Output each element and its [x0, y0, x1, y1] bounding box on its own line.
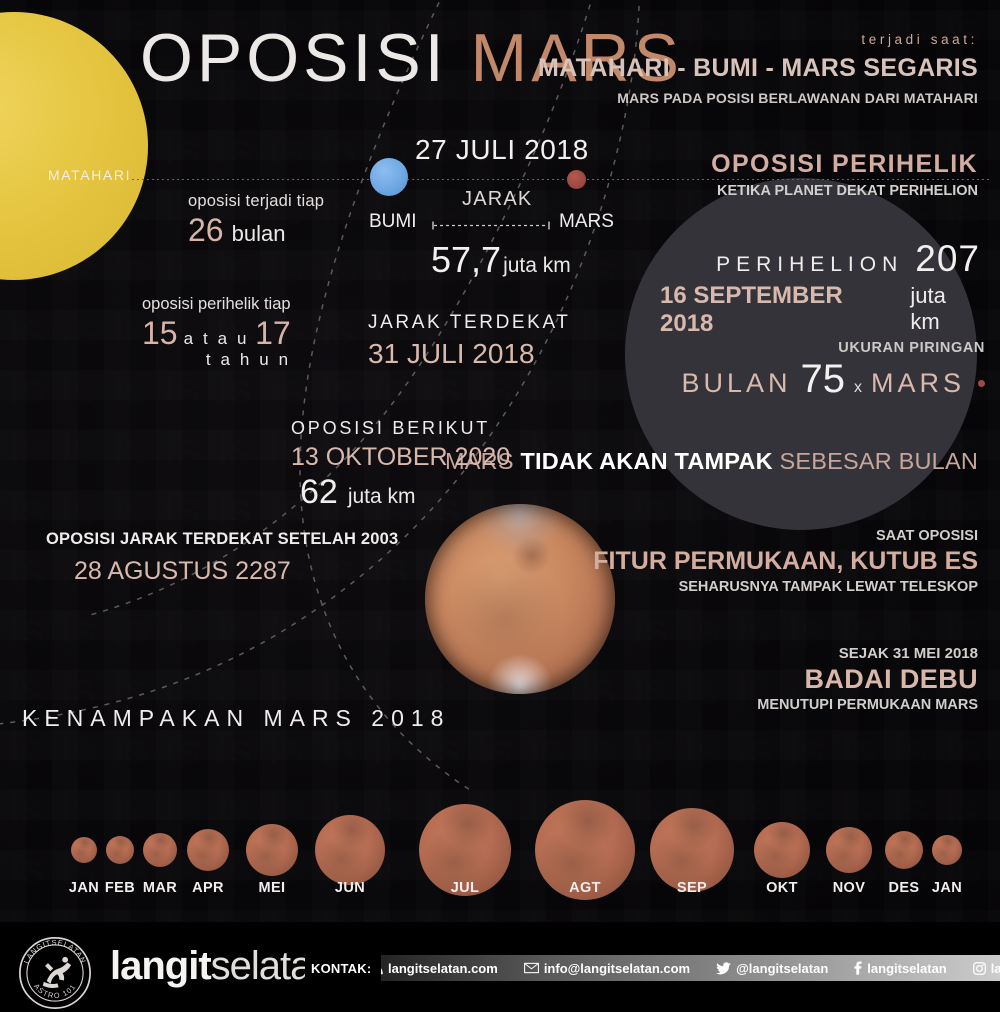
- disc-size-moon-label: BULAN: [681, 368, 791, 399]
- perihelic-subtitle: KETIKA PLANET DEKAT PERIHELION: [711, 183, 978, 199]
- month-label-jan: JAN: [917, 880, 977, 896]
- contact-email-text: info@langitselatan.com: [544, 961, 690, 976]
- closest-distance-date: 31 JULI 2018: [368, 338, 571, 370]
- disc-size-block: UKURAN PIRINGAN BULAN 75 x MARS: [660, 340, 985, 402]
- langitselatan-logo-icon[interactable]: LANGITSELATAN ASTRO 101: [16, 934, 94, 1012]
- header-main-line: MATAHARI - BUMI - MARS SEGARIS: [538, 54, 978, 83]
- title-word-oposisi: OPOSISI: [140, 20, 448, 96]
- mars-size-jan: [932, 835, 962, 865]
- orbit-earth: [300, 0, 470, 790]
- earth-dot: [370, 158, 408, 196]
- month-label-nov: NOV: [819, 880, 879, 896]
- svg-text:LANGITSELATAN: LANGITSELATAN: [22, 938, 88, 965]
- mars-planet-photo: [425, 504, 615, 694]
- distance-measure-line: [432, 221, 550, 230]
- disc-size-factor: 75: [800, 357, 845, 402]
- perihelion-value: 207: [915, 238, 980, 280]
- closest-after-2003-block: OPOSISI JARAK TERDEKAT SETELAH 2003 28 A…: [46, 530, 398, 586]
- brand-wordmark: langitselatan: [110, 944, 333, 989]
- closest-after-2003-caption: OPOSISI JARAK TERDEKAT SETELAH 2003: [46, 530, 398, 549]
- perihelion-unit: juta km: [910, 283, 980, 335]
- perihelic-interval-conj: a t a u: [184, 329, 249, 349]
- opposition-interval-caption: oposisi terjadi tiap: [188, 192, 324, 211]
- surface-features-main: FITUR PERMUKAAN, KUTUB ES: [593, 547, 978, 576]
- contact-instagram-text: langitselatanmedia: [991, 961, 1000, 976]
- header-kicker: terjadi saat:: [538, 32, 978, 47]
- contact-twitter[interactable]: @langitselatan: [703, 961, 841, 976]
- next-opposition-date: 13 OKTOBER 2020: [291, 443, 510, 472]
- perihelic-interval-unit: t a h u n: [142, 350, 291, 370]
- mars-size-feb: [106, 836, 134, 864]
- perihelion-label: PERIHELION: [716, 253, 903, 277]
- closest-distance-block: JARAK TERDEKAT 31 JULI 2018: [368, 312, 571, 370]
- contact-email[interactable]: info@langitselatan.com: [511, 961, 703, 976]
- contact-bar: KONTAK: langitselatan.com info@langitsel…: [357, 955, 1000, 981]
- contact-website-text: langitselatan.com: [388, 961, 498, 976]
- month-label-sep: SEP: [662, 880, 722, 896]
- distance-value: 57,7: [431, 239, 501, 281]
- footer-bar: LANGITSELATAN ASTRO 101 langitselatan KO…: [0, 922, 1000, 1000]
- mars-size-jan: [71, 837, 97, 863]
- perihelion-block: PERIHELION 207 16 SEPTEMBER 2018 juta km: [660, 238, 980, 338]
- distance-caption: JARAK: [462, 188, 532, 211]
- mars-apparent-size-chart: JANFEBMARAPRMEIJUNJULAGTSEPOKTNOVDESJAN: [0, 752, 1000, 902]
- perihelic-title: OPOSISI PERIHELIK: [711, 150, 978, 179]
- mars-label: MARS: [559, 211, 614, 233]
- perihelic-interval-block: oposisi perihelik tiap 15 a t a u 17 t a…: [142, 295, 291, 370]
- surface-features-sub: SEHARUSNYA TAMPAK LEWAT TELESKOP: [593, 579, 978, 595]
- opposition-interval-unit: bulan: [232, 221, 286, 247]
- next-opposition-block: OPOSISI BERIKUT 13 OKTOBER 2020 62 juta …: [291, 418, 510, 512]
- disc-size-mars-label: MARS: [871, 368, 965, 399]
- contact-facebook-text: langitselatan: [867, 961, 946, 976]
- perihelic-interval-value2: 17: [255, 315, 291, 352]
- twitter-icon: [716, 962, 731, 975]
- distance-value-block: 57,7 juta km: [431, 239, 571, 281]
- mars-size-okt: [754, 822, 810, 878]
- mars-size-nov: [826, 827, 872, 873]
- contact-instagram[interactable]: langitselatanmedia: [960, 961, 1000, 976]
- sun-label: MATAHARI: [48, 167, 131, 183]
- mars-size-mar: [143, 833, 177, 867]
- facebook-icon: [854, 961, 862, 975]
- next-opposition-value: 62: [300, 473, 338, 512]
- closest-after-2003-date: 28 AGUSTUS 2287: [46, 557, 398, 586]
- notbig-part3: SEBESAR BULAN: [773, 448, 978, 474]
- disc-size-caption: UKURAN PIRINGAN: [660, 340, 985, 356]
- contact-twitter-text: @langitselatan: [736, 961, 828, 976]
- mail-icon: [524, 962, 539, 974]
- month-label-jul: JUL: [435, 880, 495, 896]
- mars-size-jun: [315, 815, 385, 885]
- not-as-big-as-moon-statement: MARS TIDAK AKAN TAMPAK SEBESAR BULAN: [445, 448, 978, 475]
- instagram-icon: [973, 962, 986, 975]
- opposition-date: 27 JULI 2018: [415, 134, 589, 166]
- mars-size-mei: [246, 824, 298, 876]
- perihelic-interval-value1: 15: [142, 315, 178, 352]
- dust-storm-sub: MENUTUPI PERMUKAAN MARS: [757, 697, 978, 713]
- notbig-part2: TIDAK AKAN TAMPAK: [520, 448, 772, 474]
- mars-size-des: [885, 831, 923, 869]
- surface-features-block: SAAT OPOSISI FITUR PERMUKAAN, KUTUB ES S…: [593, 528, 978, 595]
- kontak-label: KONTAK:: [305, 955, 381, 981]
- next-opposition-unit: juta km: [348, 485, 416, 509]
- dust-storm-main: BADAI DEBU: [757, 664, 978, 695]
- month-label-agt: AGT: [555, 880, 615, 896]
- header-right-block: terjadi saat: MATAHARI - BUMI - MARS SEG…: [538, 32, 978, 106]
- opposition-interval-block: oposisi terjadi tiap 26 bulan: [188, 192, 324, 249]
- mars-size-reference-dot: [978, 380, 985, 387]
- closest-distance-caption: JARAK TERDEKAT: [368, 312, 571, 334]
- month-label-apr: APR: [178, 880, 238, 896]
- disc-size-times: x: [854, 379, 862, 397]
- dust-storm-caption: SEJAK 31 MEI 2018: [757, 645, 978, 662]
- month-label-jun: JUN: [320, 880, 380, 896]
- perihelion-date: 16 SEPTEMBER 2018: [660, 282, 898, 338]
- surface-features-caption: SAAT OPOSISI: [593, 528, 978, 544]
- appearance-heading: KENAMPAKAN MARS 2018: [22, 705, 450, 732]
- month-label-okt: OKT: [752, 880, 812, 896]
- earth-label: BUMI: [369, 211, 417, 233]
- brand-part-langit: langit: [110, 944, 211, 988]
- perihelic-opposition-block: OPOSISI PERIHELIK KETIKA PLANET DEKAT PE…: [711, 150, 978, 199]
- mars-dot: [567, 170, 586, 189]
- distance-unit: juta km: [503, 254, 571, 278]
- next-opposition-caption: OPOSISI BERIKUT: [291, 418, 510, 439]
- month-label-mei: MEI: [242, 880, 302, 896]
- dust-storm-block: SEJAK 31 MEI 2018 BADAI DEBU MENUTUPI PE…: [757, 645, 978, 713]
- perihelic-interval-caption: oposisi perihelik tiap: [142, 295, 291, 314]
- contact-facebook[interactable]: langitselatan: [841, 961, 959, 976]
- mars-size-apr: [187, 829, 229, 871]
- header-sub-line: MARS PADA POSISI BERLAWANAN DARI MATAHAR…: [538, 90, 978, 106]
- opposition-interval-value: 26: [188, 212, 224, 249]
